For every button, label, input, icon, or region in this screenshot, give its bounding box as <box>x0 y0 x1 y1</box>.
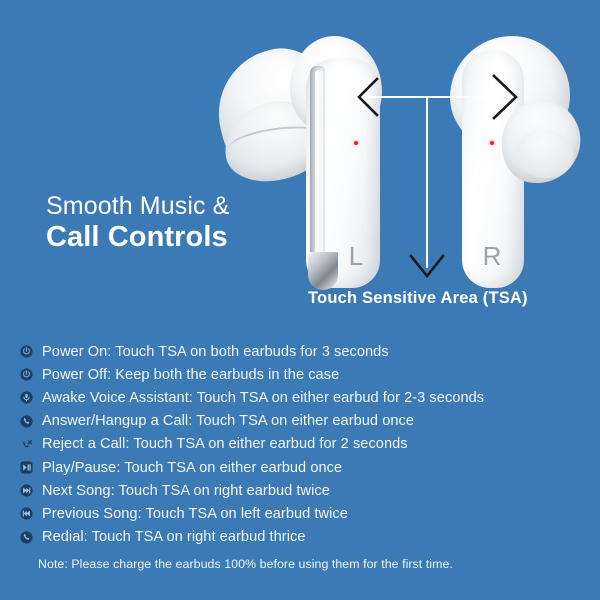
phone-reject-icon <box>20 435 42 453</box>
headline-line-1: Smooth Music & <box>46 192 306 220</box>
power-off-icon <box>20 366 42 384</box>
list-item-label: Play/Pause: Touch TSA on either earbud o… <box>42 460 342 476</box>
list-item-label: Previous Song: Touch TSA on left earbud … <box>42 506 348 522</box>
right-arrowhead-icon <box>494 76 516 118</box>
previous-track-icon <box>20 505 42 523</box>
list-item: Next Song: Touch TSA on right earbud twi… <box>0 479 600 502</box>
list-item-label: Awake Voice Assistant: Touch TSA on eith… <box>42 390 484 406</box>
voice-assistant-icon <box>20 389 42 407</box>
note-text: Note: Please charge the earbuds 100% bef… <box>38 557 453 571</box>
play-pause-icon <box>20 459 42 477</box>
list-item-label: Power On: Touch TSA on both earbuds for … <box>42 344 389 360</box>
callout-arrows <box>0 0 600 330</box>
list-item: Power Off: Keep both the earbuds in the … <box>0 363 600 386</box>
phone-answer-icon <box>20 412 42 430</box>
list-item: Awake Voice Assistant: Touch TSA on eith… <box>0 386 600 409</box>
list-item: Play/Pause: Touch TSA on either earbud o… <box>0 456 600 479</box>
infographic-page: L R Smooth Music & Call Contr <box>0 0 600 600</box>
feature-list: Power On: Touch TSA on both earbuds for … <box>0 340 600 549</box>
list-item: Power On: Touch TSA on both earbuds for … <box>0 340 600 363</box>
list-item-label: Redial: Touch TSA on right earbud thrice <box>42 529 306 545</box>
list-item-label: Reject a Call: Touch TSA on either earbu… <box>42 436 408 452</box>
list-item-label: Answer/Hangup a Call: Touch TSA on eithe… <box>42 413 414 429</box>
list-item: Reject a Call: Touch TSA on either earbu… <box>0 433 600 456</box>
headline: Smooth Music & Call Controls <box>46 192 306 254</box>
list-item: Redial: Touch TSA on right earbud thrice <box>0 526 600 549</box>
touch-sensitive-area-caption: Touch Sensitive Area (TSA) <box>308 289 528 308</box>
phone-redial-icon <box>20 528 42 546</box>
next-track-icon <box>20 482 42 500</box>
headline-line-2: Call Controls <box>46 221 306 254</box>
list-item: Previous Song: Touch TSA on left earbud … <box>0 502 600 525</box>
product-hero: L R Smooth Music & Call Contr <box>0 0 600 330</box>
list-item: Answer/Hangup a Call: Touch TSA on eithe… <box>0 410 600 433</box>
power-on-icon <box>20 343 42 361</box>
list-item-label: Next Song: Touch TSA on right earbud twi… <box>42 483 330 499</box>
list-item-label: Power Off: Keep both the earbuds in the … <box>42 367 339 383</box>
